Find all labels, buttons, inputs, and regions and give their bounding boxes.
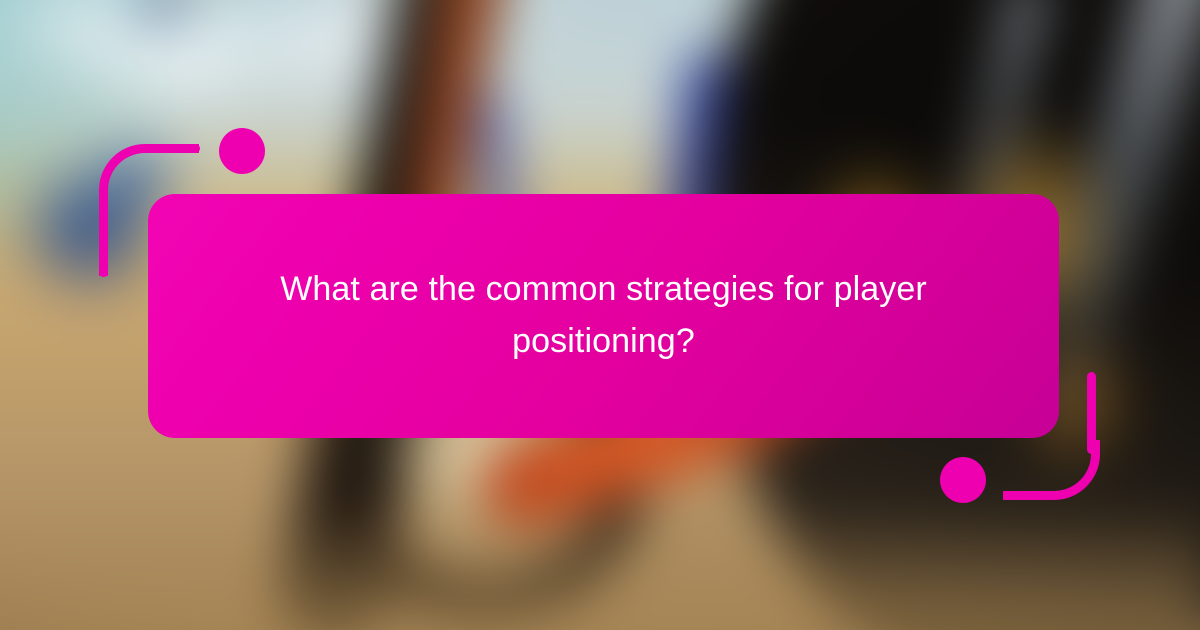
page-title: What are the common strategies for playe… bbox=[224, 264, 984, 367]
title-card: What are the common strategies for playe… bbox=[148, 194, 1059, 438]
social-card-canvas: What are the common strategies for playe… bbox=[0, 0, 1200, 630]
bracket-bottom-right-tail-icon bbox=[1087, 372, 1096, 454]
dot-bottom-right-icon bbox=[940, 457, 986, 503]
corner-line-bottom-left-3 bbox=[0, 519, 148, 630]
corner-line-top-right-3 bbox=[1037, 0, 1200, 96]
dot-top-left-icon bbox=[219, 128, 265, 174]
